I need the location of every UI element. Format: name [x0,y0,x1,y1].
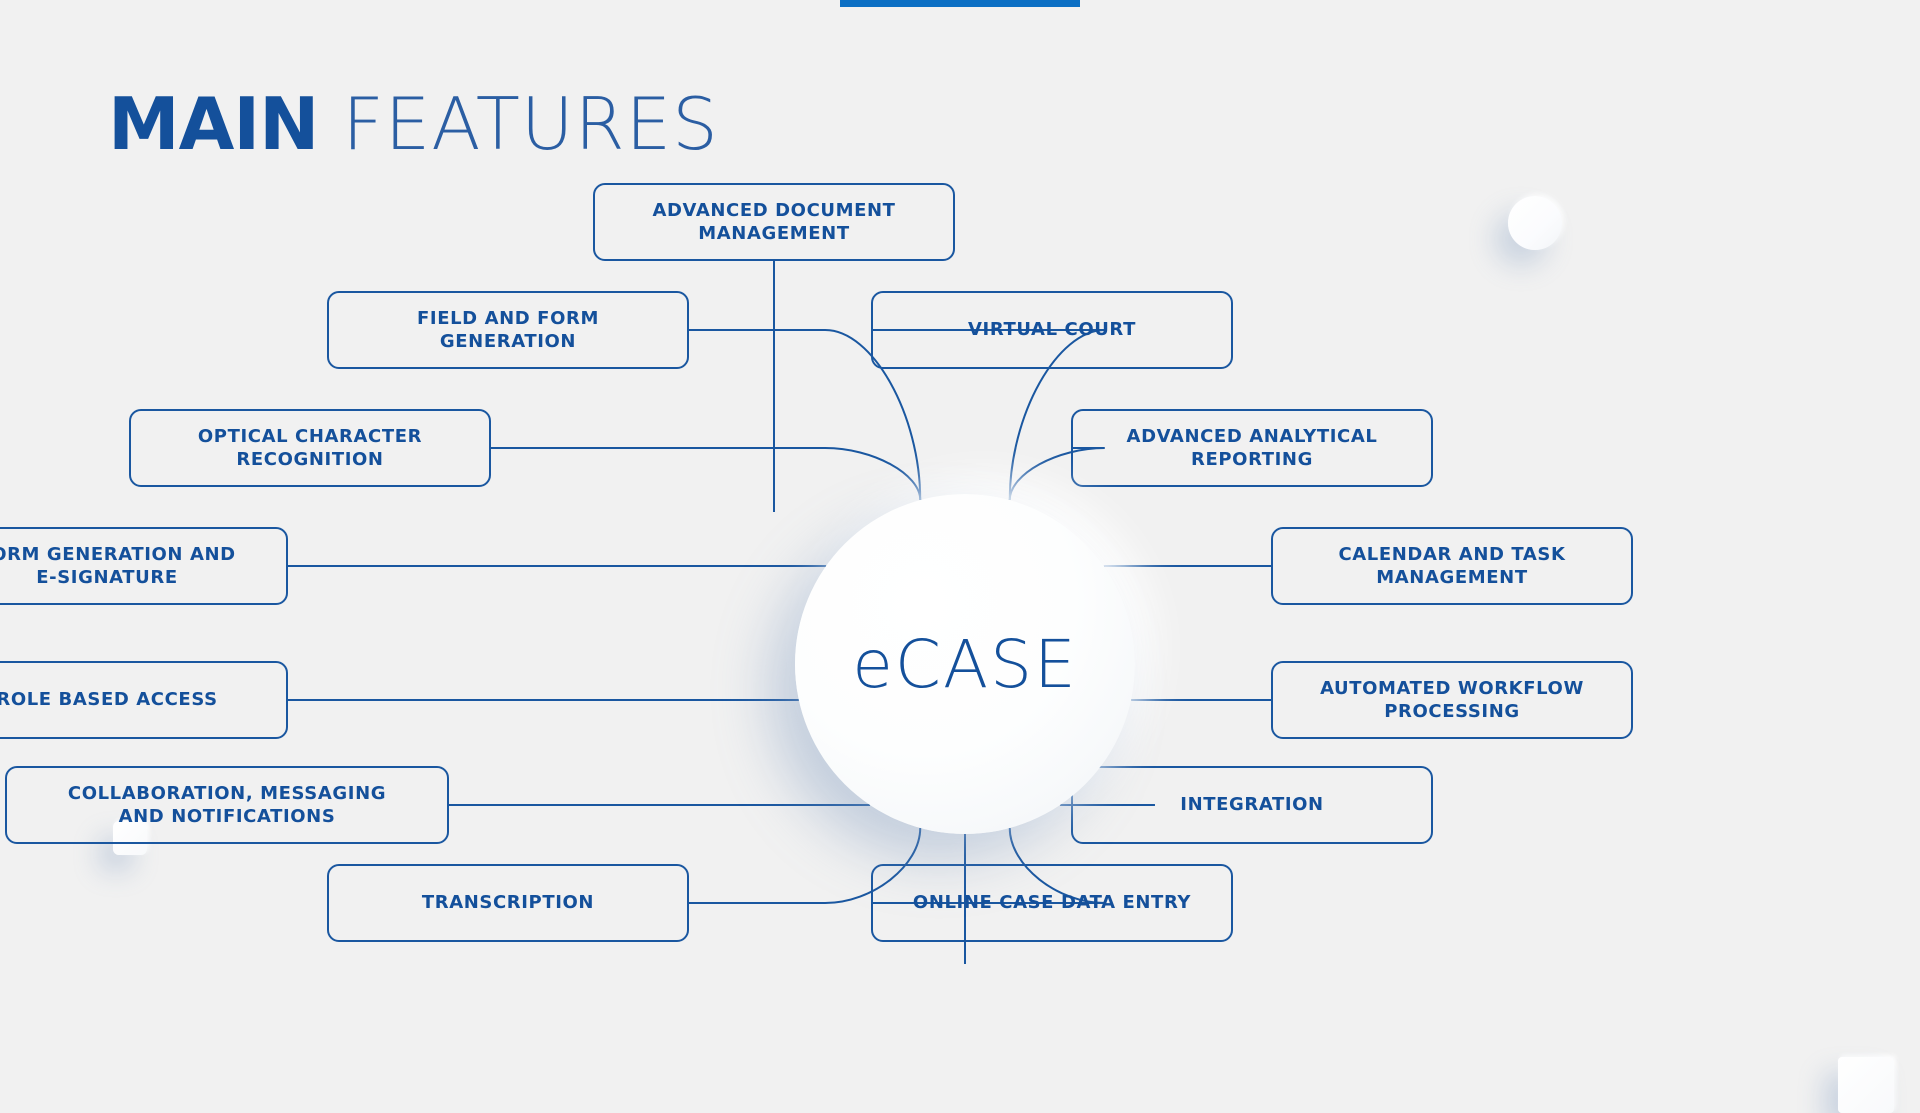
feature-node-label: FIELD AND FORM GENERATION [417,307,599,353]
feature-node-integration[interactable]: INTEGRATION [1071,766,1433,844]
connector-optical-character-recognition [491,448,920,500]
feature-node-role-based-access[interactable]: ROLE BASED ACCESS [0,661,288,739]
feature-node-form-generation-and-e-signature[interactable]: FORM GENERATION AND E-SIGNATURE [0,527,288,605]
feature-node-field-and-form-generation[interactable]: FIELD AND FORM GENERATION [327,291,689,369]
feature-node-label: ROLE BASED ACCESS [0,688,218,711]
feature-node-automated-workflow-processing[interactable]: AUTOMATED WORKFLOW PROCESSING [1271,661,1633,739]
feature-node-virtual-court[interactable]: VIRTUAL COURT [871,291,1233,369]
feature-node-online-case-data-entry[interactable]: ONLINE CASE DATA ENTRY [871,864,1233,942]
hub-circle: eCASE [795,494,1135,834]
feature-node-label: AUTOMATED WORKFLOW PROCESSING [1320,677,1584,723]
feature-node-optical-character-recognition[interactable]: OPTICAL CHARACTER RECOGNITION [129,409,491,487]
hub-label: eCASE [852,626,1077,703]
feature-node-calendar-and-task-management[interactable]: CALENDAR AND TASK MANAGEMENT [1271,527,1633,605]
feature-node-transcription[interactable]: TRANSCRIPTION [327,864,689,942]
feature-node-collaboration-messaging-and-notifications[interactable]: COLLABORATION, MESSAGING AND NOTIFICATIO… [5,766,449,844]
feature-node-label: COLLABORATION, MESSAGING AND NOTIFICATIO… [68,782,386,828]
feature-node-advanced-analytical-reporting[interactable]: ADVANCED ANALYTICAL REPORTING [1071,409,1433,487]
feature-node-label: INTEGRATION [1180,793,1323,816]
feature-node-advanced-document-management[interactable]: ADVANCED DOCUMENT MANAGEMENT [593,183,955,261]
feature-node-label: FORM GENERATION AND E-SIGNATURE [0,543,236,589]
mindmap-canvas: MAIN FEATURES eCASE ADVANCED DOCUMENT MA… [0,0,1920,1080]
feature-node-label: ADVANCED ANALYTICAL REPORTING [1127,425,1378,471]
feature-node-label: TRANSCRIPTION [422,891,594,914]
feature-node-label: VIRTUAL COURT [968,318,1136,341]
feature-node-label: ADVANCED DOCUMENT MANAGEMENT [652,199,895,245]
feature-node-label: OPTICAL CHARACTER RECOGNITION [198,425,422,471]
feature-node-label: CALENDAR AND TASK MANAGEMENT [1338,543,1565,589]
feature-node-label: ONLINE CASE DATA ENTRY [913,891,1191,914]
